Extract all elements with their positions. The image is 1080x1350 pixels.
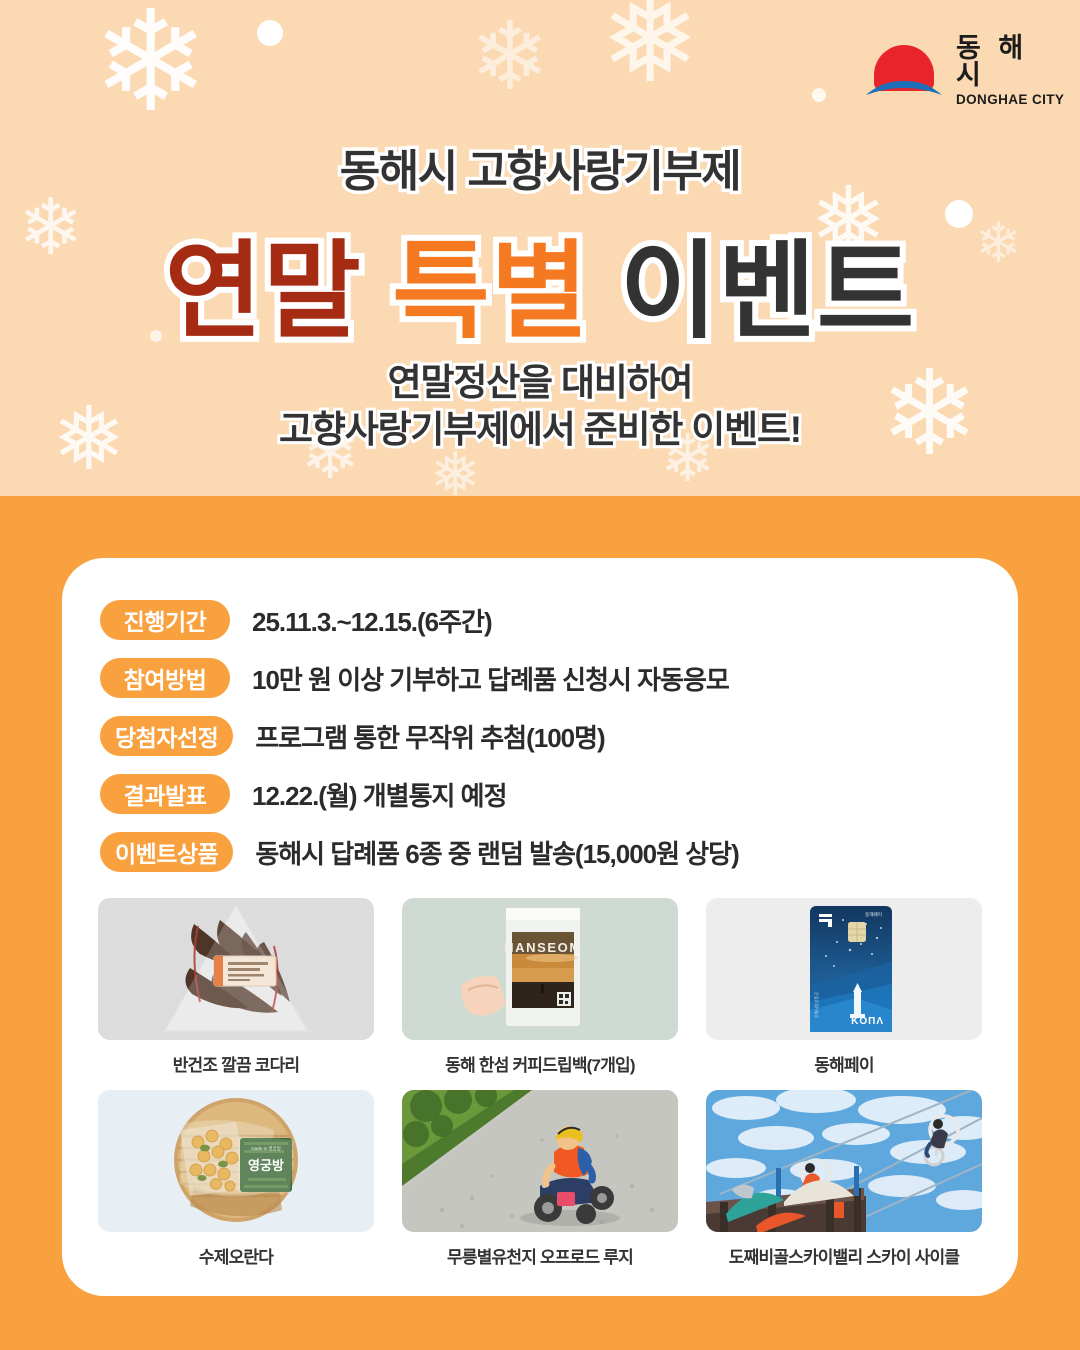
info-row: 결과발표 12.22.(월) 개별통지 예정 [100,766,980,822]
product-item: HANSEOM 동해 한섬 커피드립백(7개입) [402,898,678,1076]
event-info-list: 진행기간 25.11.3.~12.15.(6주간) 참여방법 10만 원 이상 … [100,592,980,882]
info-value-result-announcement: 12.22.(월) 개별통지 예정 [252,776,507,813]
info-badge-winner-selection: 당첨자선정 [100,716,233,756]
product-image-handmade-oranda: 영궁방 made in 영궁방 [98,1090,374,1232]
title-word-yeonmal: 연말 [165,233,362,351]
sun-wave-logo-icon [866,43,942,99]
info-value-event-prize: 동해시 답례품 6종 중 랜덤 발송(15,000원 상당) [255,834,738,871]
info-value-winner-selection: 프로그램 통한 무작위 추첨(100명) [255,718,604,755]
header-subtitle-line-2: 고향사랑기부제에서 준비한 이벤트! [0,407,1080,454]
svg-text:동해사랑상품권: 동해사랑상품권 [813,992,819,1018]
poster-header: ❄ ❄ ❅ ❄ ❅ ❄ ❅ ❄ ❄ ❅ ❄ 동 해 시 DO [0,0,1080,496]
header-subtitle-line-1: 연말정산을 대비하여 [0,360,1080,407]
product-image-offroad-luge [402,1090,678,1232]
svg-text:KOПΛ: KOПΛ [851,1016,884,1027]
svg-text:HANSEOM: HANSEOM [504,940,582,955]
product-image-dried-fish-pack [98,898,374,1040]
product-image-donghae-pay-card: 동해페이 KOПΛ 동해사랑상품권 [706,898,982,1040]
info-badge-event-prize: 이벤트상품 [100,832,233,872]
product-caption: 수제오란다 [98,1243,374,1268]
product-caption: 도째비골스카이밸리 스카이 사이클 [706,1243,982,1268]
info-value-how-to-join: 10만 원 이상 기부하고 답례품 신청시 자동응모 [252,660,729,697]
info-row: 이벤트상품 동해시 답례품 6종 중 랜덤 발송(15,000원 상당) [100,824,980,880]
product-item: 반건조 깔끔 코다리 [98,898,374,1076]
snowflake-icon: ❄ [470,10,550,105]
product-item: 무릉별유천지 오프로드 루지 [402,1090,678,1268]
header-subtitle: 연말정산을 대비하여 고향사랑기부제에서 준비한 이벤트! [0,360,1080,453]
info-value-period: 25.11.3.~12.15.(6주간) [252,602,492,639]
header-title: 연말 특별 이벤트 [0,205,1080,359]
content-card: 진행기간 25.11.3.~12.15.(6주간) 참여방법 10만 원 이상 … [62,558,1018,1296]
poster-root: ❄ ❄ ❅ ❄ ❅ ❄ ❅ ❄ ❄ ❅ ❄ 동 해 시 DO [0,0,1080,1350]
logo-text-english: DONGHAE CITY [956,93,1066,107]
snowflake-icon: ❄ [92,0,209,132]
title-word-event: 이벤트 [620,233,916,351]
donghae-city-logo: 동 해 시 DONGHAE CITY [866,38,1066,104]
product-caption: 무릉별유천지 오프로드 루지 [402,1243,678,1268]
info-badge-how-to-join: 참여방법 [100,658,230,698]
product-caption: 동해페이 [706,1051,982,1076]
product-item: 동해페이 KOПΛ 동해사랑상품권 동해페이 [706,898,982,1076]
decorative-dot [257,20,283,46]
product-grid: 반건조 깔끔 코다리 HANSEOM [98,898,982,1268]
product-image-sky-cycle [706,1090,982,1232]
decorative-dot [812,88,826,102]
snowflake-icon: ❅ [600,0,701,100]
info-badge-period: 진행기간 [100,600,230,640]
info-row: 참여방법 10만 원 이상 기부하고 답례품 신청시 자동응모 [100,650,980,706]
info-row: 진행기간 25.11.3.~12.15.(6주간) [100,592,980,648]
header-kicker: 동해시 고향사랑기부제 [0,135,1080,199]
product-caption: 동해 한섬 커피드립백(7개입) [402,1051,678,1076]
product-item: 영궁방 made in 영궁방 수제오란다 [98,1090,374,1268]
info-badge-result-announcement: 결과발표 [100,774,230,814]
product-caption: 반건조 깔끔 코다리 [98,1051,374,1076]
svg-text:동해페이: 동해페이 [865,911,882,918]
product-image-coffee-drip-bag: HANSEOM [402,898,678,1040]
info-row: 당첨자선정 프로그램 통한 무작위 추첨(100명) [100,708,980,764]
logo-text-korean: 동 해 시 [956,35,1066,89]
title-word-teukbyeol: 특별 [392,233,589,351]
product-item: 도째비골스카이밸리 스카이 사이클 [706,1090,982,1268]
